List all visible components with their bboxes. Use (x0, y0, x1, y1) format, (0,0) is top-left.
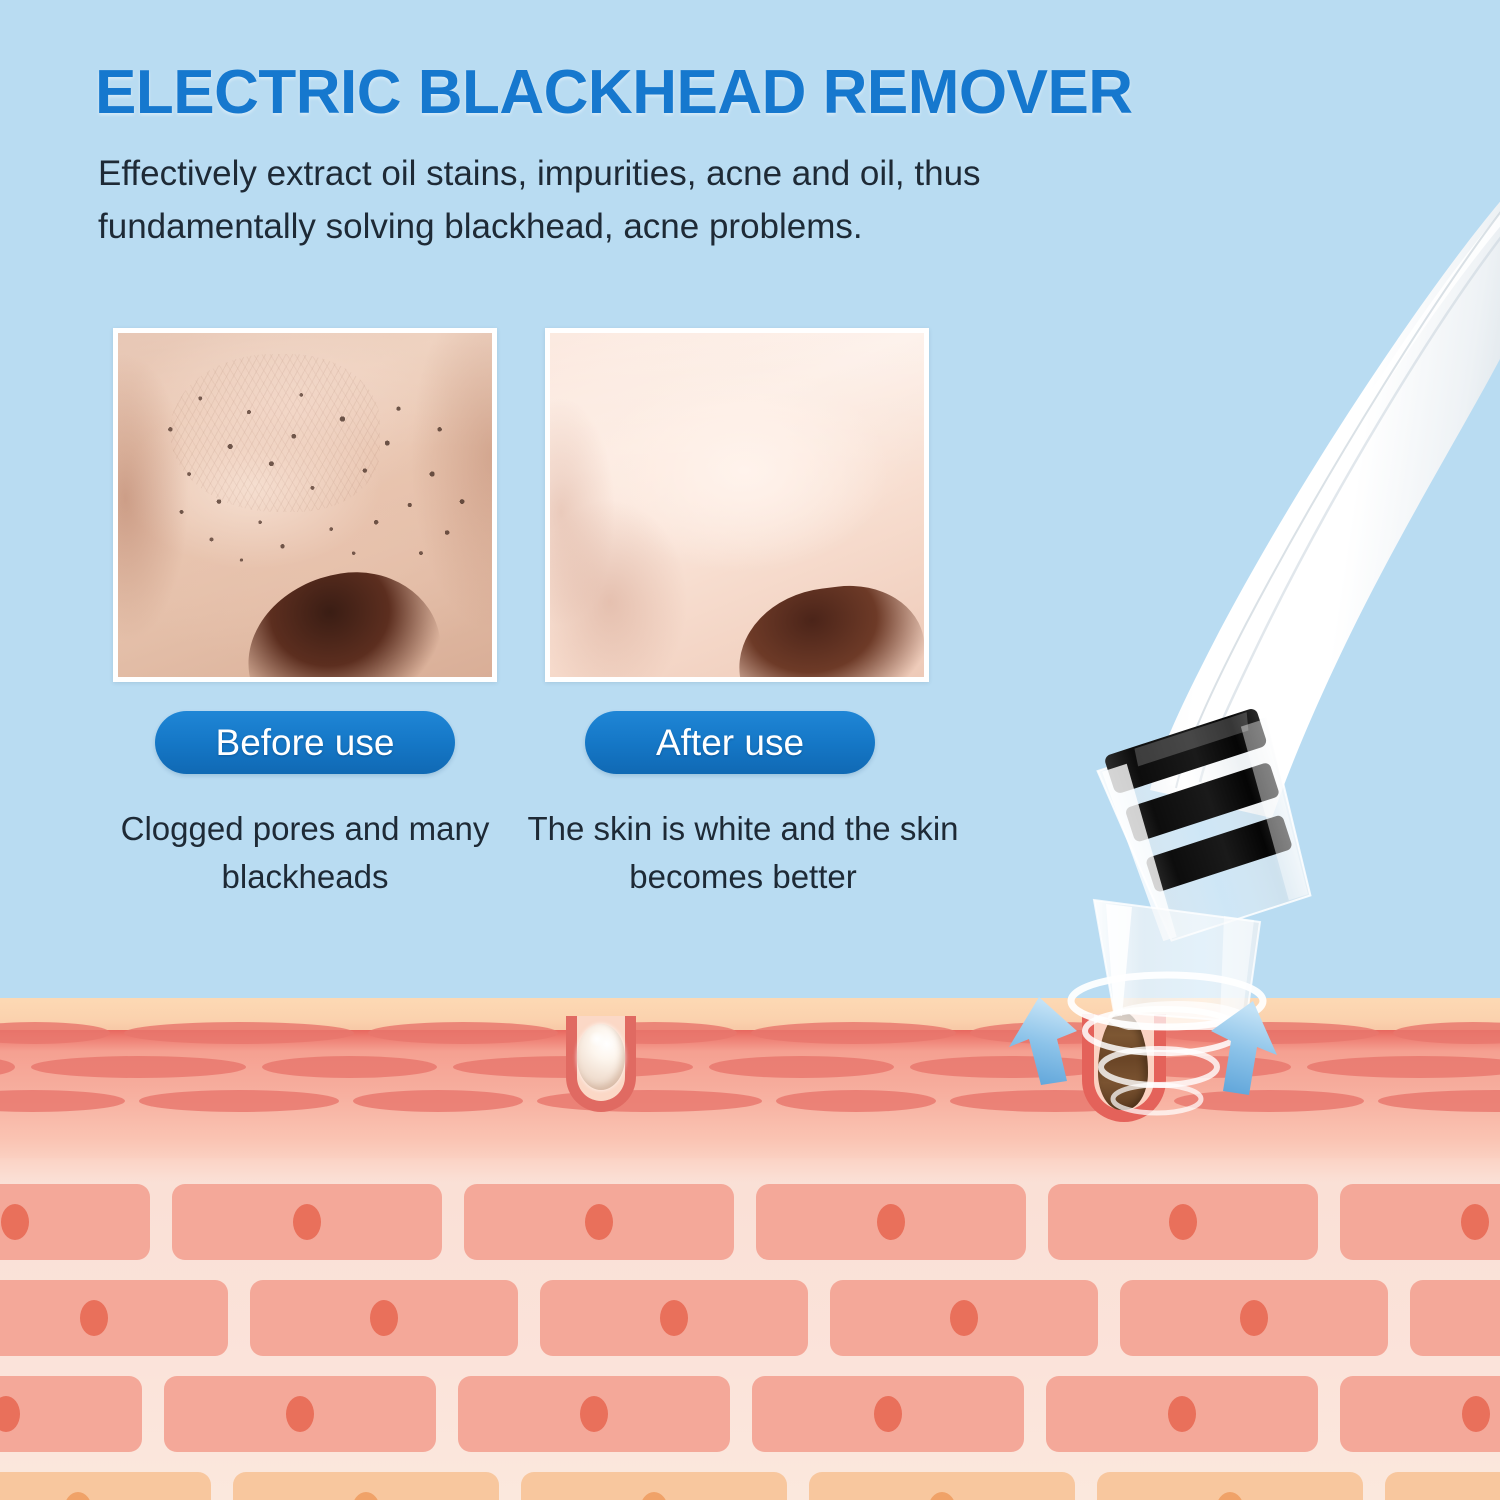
dermis-cell (1120, 1280, 1388, 1356)
suction-arrow-left (1009, 997, 1077, 1085)
dermis-cell (0, 1376, 142, 1452)
cell-nucleus (640, 1492, 668, 1500)
cell-nucleus (0, 1396, 20, 1432)
dermis-cell (0, 1280, 228, 1356)
after-use-badge: After use (585, 711, 875, 774)
cell-nucleus (877, 1204, 905, 1240)
epidermis-cell (0, 1090, 125, 1112)
page-title: ELECTRIC BLACKHEAD REMOVER (95, 62, 1205, 124)
dermis-cell (1385, 1472, 1500, 1500)
dermis-cell-row (0, 1472, 1500, 1500)
dermis-cell (233, 1472, 499, 1500)
product-infographic: ELECTRIC BLACKHEAD REMOVER Effectively e… (0, 0, 1500, 1500)
cell-nucleus (950, 1300, 978, 1336)
dermis-cell (1410, 1280, 1500, 1356)
dermis-cell (1048, 1184, 1318, 1260)
epidermis-cell (353, 1090, 523, 1112)
sebum-highlight (588, 1032, 606, 1046)
cell-nucleus (660, 1300, 688, 1336)
suction-effect (995, 935, 1325, 1135)
epidermis-cell (1393, 1022, 1500, 1044)
device-ring (1103, 707, 1268, 794)
dermis-cell (756, 1184, 1026, 1260)
page-subtitle: Effectively extract oil stains, impuriti… (98, 148, 1108, 253)
cell-nucleus (1461, 1204, 1489, 1240)
cell-nucleus (286, 1396, 314, 1432)
epidermis-cell (1378, 1090, 1500, 1112)
blackhead-remover-device (1010, 200, 1500, 1030)
blackhead-pores-overlay (118, 333, 492, 677)
after-use-caption: The skin is white and the skin becomes b… (508, 805, 978, 901)
device-ring (1124, 762, 1280, 843)
before-photo (118, 333, 492, 677)
clogged-pore-with-sebum (566, 1016, 636, 1112)
epidermis-cell (0, 1056, 15, 1078)
cell-nucleus (1240, 1300, 1268, 1336)
cell-nucleus (80, 1300, 108, 1336)
cell-nucleus (370, 1300, 398, 1336)
dermis-cell-row (0, 1280, 1500, 1362)
after-photo (550, 333, 924, 677)
dermis-cell (0, 1472, 211, 1500)
cell-nucleus (874, 1396, 902, 1432)
cell-nucleus (1168, 1396, 1196, 1432)
dermis-cell (1046, 1376, 1318, 1452)
cell-nucleus (64, 1492, 92, 1500)
epidermis-cell (368, 1022, 558, 1044)
dermis-cell (1097, 1472, 1363, 1500)
device-ring (1145, 814, 1293, 893)
dermis-cell (0, 1184, 150, 1260)
cell-nucleus (928, 1492, 956, 1500)
dermis-cell (458, 1376, 730, 1452)
device-collar (1094, 705, 1324, 946)
epidermis-cell (709, 1056, 894, 1078)
cell-nucleus (1216, 1492, 1244, 1500)
before-use-badge: Before use (155, 711, 455, 774)
dermis-cell (1340, 1184, 1500, 1260)
dermis-cell (1340, 1376, 1500, 1452)
epidermis-cell (124, 1022, 354, 1044)
dermis-cell (164, 1376, 436, 1452)
dermis-cell (172, 1184, 442, 1260)
after-photo-frame (545, 328, 929, 682)
swirl-ring (1113, 1085, 1201, 1113)
before-use-caption: Clogged pores and many blackheads (105, 805, 505, 901)
epidermis-cell (0, 1022, 110, 1044)
dermis-cell (250, 1280, 518, 1356)
epidermis-cell (262, 1056, 437, 1078)
dermis-cell (540, 1280, 808, 1356)
cell-nucleus (1169, 1204, 1197, 1240)
device-handle (1150, 200, 1500, 818)
dermis-cell (521, 1472, 787, 1500)
dermis-layer (0, 1184, 1500, 1500)
epidermis-cell (139, 1090, 339, 1112)
before-photo-frame (113, 328, 497, 682)
cell-nucleus (293, 1204, 321, 1240)
dermis-cell (809, 1472, 1075, 1500)
epidermis-cell (776, 1090, 936, 1112)
epidermis-cell (31, 1056, 246, 1078)
epidermis-cell (751, 1022, 956, 1044)
dermis-cell (464, 1184, 734, 1260)
nose-image-after (550, 333, 924, 677)
cell-nucleus (585, 1204, 613, 1240)
dermis-cell-row (0, 1376, 1500, 1458)
dermis-cell (830, 1280, 1098, 1356)
cell-nucleus (1, 1204, 29, 1240)
dermis-cell (752, 1376, 1024, 1452)
cell-nucleus (1462, 1396, 1490, 1432)
cell-nucleus (580, 1396, 608, 1432)
epidermis-cell (1307, 1056, 1500, 1078)
dermis-cell-row (0, 1184, 1500, 1266)
cell-nucleus (352, 1492, 380, 1500)
